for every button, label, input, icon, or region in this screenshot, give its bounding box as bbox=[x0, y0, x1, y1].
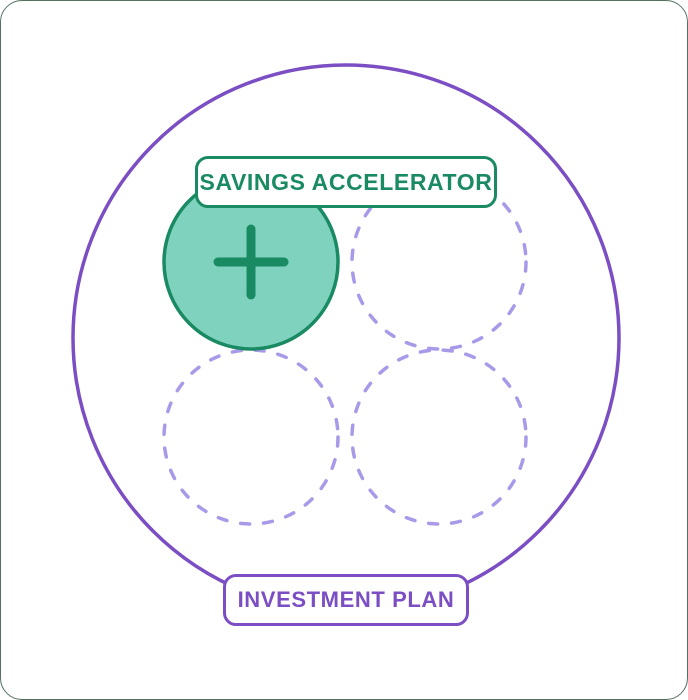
diagram-canvas: SAVINGS ACCELERATOR INVESTMENT PLAN bbox=[0, 0, 688, 700]
investment-plan-label-text: INVESTMENT PLAN bbox=[238, 587, 455, 613]
savings-accelerator-label[interactable]: SAVINGS ACCELERATOR bbox=[195, 156, 497, 208]
investment-plan-boundary-circle[interactable] bbox=[73, 65, 619, 611]
savings-accelerator-label-text: SAVINGS ACCELERATOR bbox=[200, 169, 493, 196]
slot-bottom-right-circle[interactable] bbox=[352, 350, 526, 524]
investment-plan-label[interactable]: INVESTMENT PLAN bbox=[223, 574, 469, 626]
slot-bottom-left-circle[interactable] bbox=[164, 350, 338, 524]
